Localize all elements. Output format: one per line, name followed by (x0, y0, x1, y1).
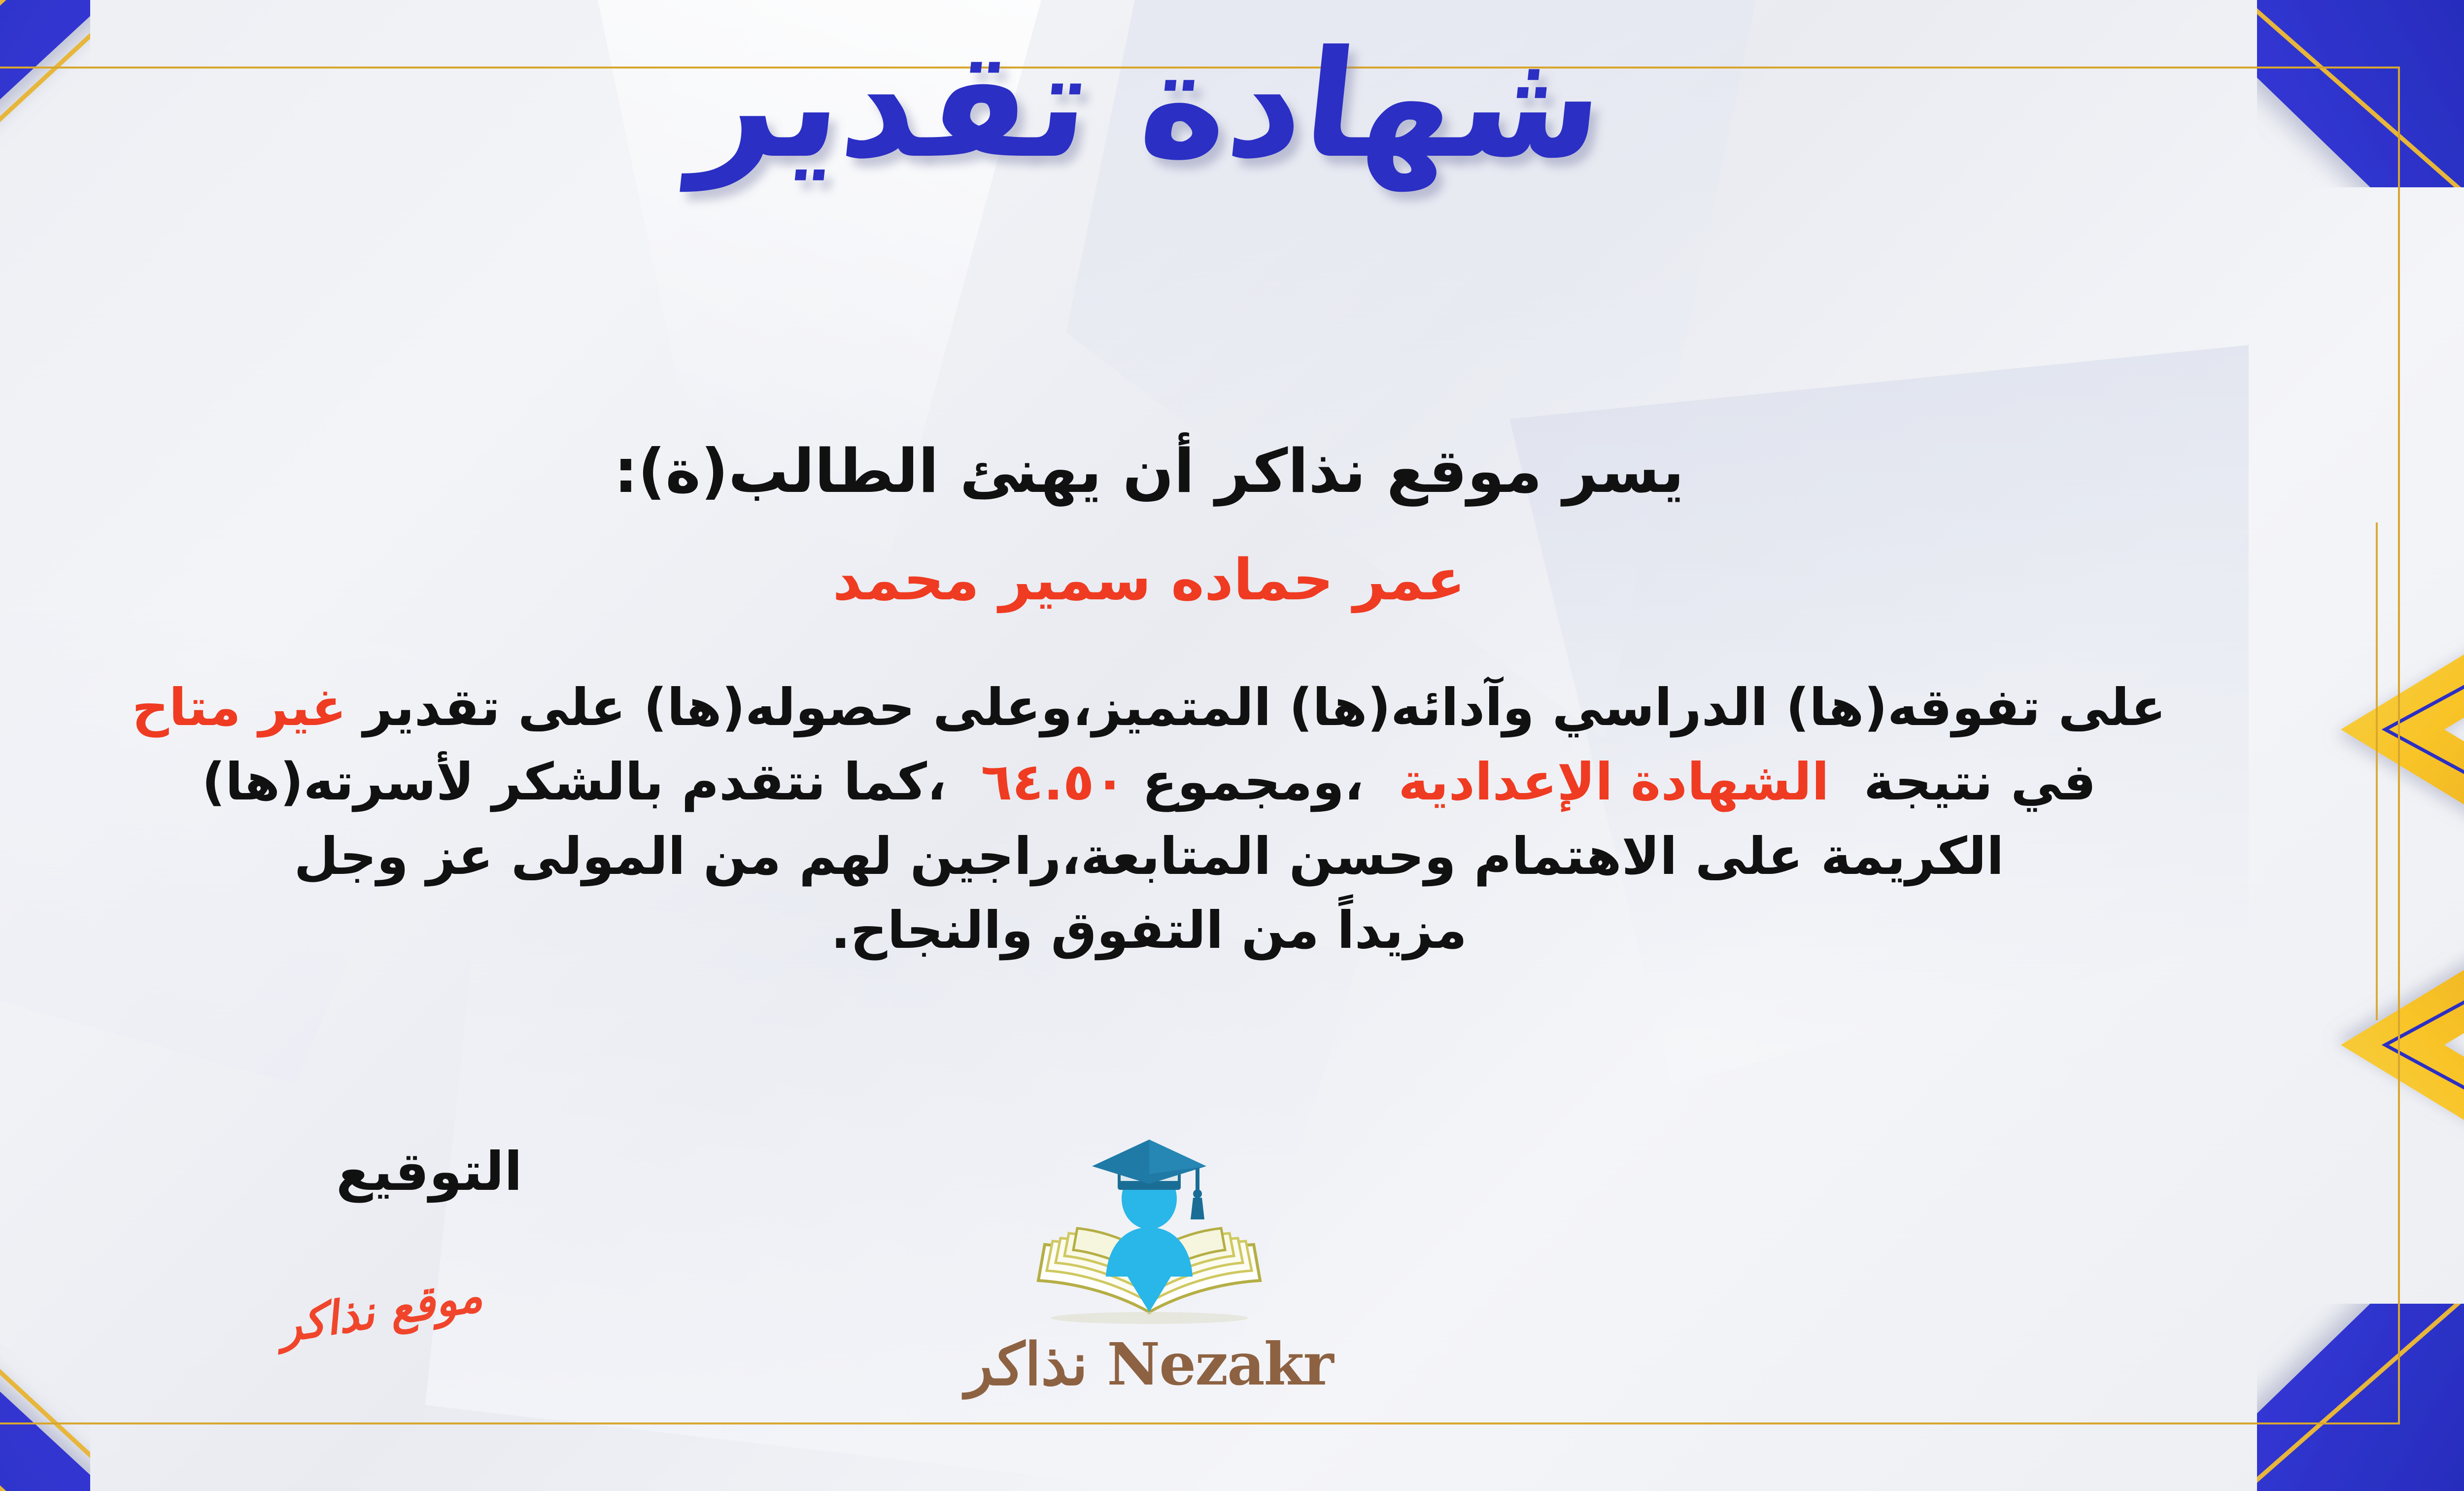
body-line-2-prefix: في نتيجة (1864, 752, 2096, 812)
site-logo: Nezakr نذاكر (962, 1129, 1336, 1398)
body-line-4: مزيداً من التفوق والنجاح. (0, 893, 2301, 968)
body-line-2: في نتيجةالشهادة الإعدادية،ومجموع٦٤.٥٠،كم… (0, 745, 2301, 819)
certificate-body: على تفوقه(ها) الدراسي وآدائه(ها) المتميز… (0, 670, 2301, 968)
body-line-3: الكريمة على الاهتمام وحسن المتابعة،راجين… (0, 819, 2301, 894)
signature-label: التوقيع (336, 1141, 522, 1203)
signature-mark: موقع نذاكر (275, 1268, 486, 1353)
body-line-2-mid: ،ومجموع (1142, 752, 1364, 812)
certificate-content: شهادة تقدير يسر موقع نذاكر أن يهنئ الطال… (0, 0, 2464, 1491)
exam-name: الشهادة الإعدادية (1398, 752, 1829, 812)
body-line-2-suffix: ،كما نتقدم بالشكر لأسرته(ها) (202, 752, 947, 812)
student-name: عمر حماده سمير محمد (0, 547, 2464, 613)
certificate-title: شهادة تقدير (0, 27, 2464, 182)
intro-line: يسر موقع نذاكر أن يهنئ الطالب(ة): (0, 436, 2464, 506)
graduate-open-book-icon (1011, 1129, 1287, 1341)
body-line-1: على تفوقه(ها) الدراسي وآدائه(ها) المتميز… (0, 670, 2301, 745)
grade-value: غير متاح (132, 677, 346, 737)
total-score: ٦٤.٥٠ (981, 752, 1125, 812)
certificate-canvas: شهادة تقدير يسر موقع نذاكر أن يهنئ الطال… (0, 0, 2464, 1491)
body-line-1-text: على تفوقه(ها) الدراسي وآدائه(ها) المتميز… (363, 677, 2166, 737)
logo-text: Nezakr نذاكر (962, 1330, 1336, 1398)
